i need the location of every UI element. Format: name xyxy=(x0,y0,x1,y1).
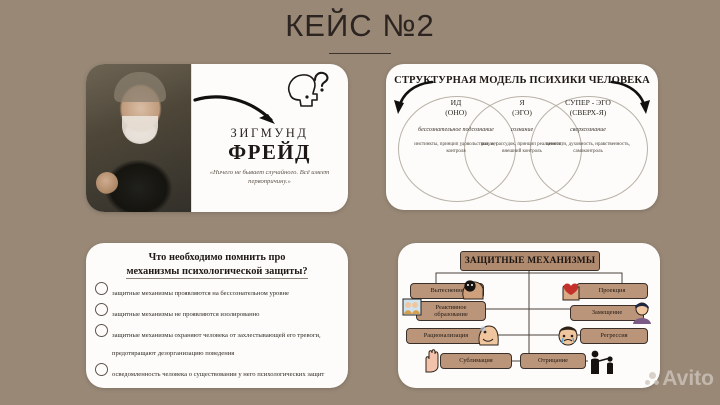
list-item: осведомленность человека о существовании… xyxy=(95,363,341,388)
list-item-text: осведомленность человека о существовании… xyxy=(112,371,324,388)
venn-column-superego: СУПЕР - ЭГО (СВЕРХ-Я) сверхсознание ценн… xyxy=(540,98,636,155)
superego-traits: ценности, духовность, нравственность, са… xyxy=(540,142,636,155)
node-proekciya[interactable]: Проекция xyxy=(576,283,648,299)
list-item-text: защитные механизмы проявляются на бессоз… xyxy=(112,290,289,297)
defense-title: ЗАЩИТНЫЕ МЕХАНИЗМЫ xyxy=(460,251,600,271)
avito-logo-icon xyxy=(645,372,660,387)
superego-alt: (СВЕРХ-Я) xyxy=(570,108,607,117)
list-item-text: защитные механизмы не проявляются изолир… xyxy=(112,311,259,318)
person-group-icon xyxy=(95,303,108,316)
list-item: защитные механизмы охраняют человека от … xyxy=(95,324,341,360)
node-regressiya[interactable]: Регрессия xyxy=(580,328,648,344)
card-remember-list: Что необходимо помнить про механизмы пси… xyxy=(86,243,348,388)
venn-diagram: ИД (ОНО) бессознательное подсознание инс… xyxy=(398,96,646,204)
id-name: ИД xyxy=(451,98,462,107)
list-heading: Что необходимо помнить про механизмы пси… xyxy=(96,251,338,279)
family-photo-icon xyxy=(402,297,422,317)
freud-firstname: ЗИГМУНД xyxy=(191,126,348,141)
card-structural-model: СТРУКТУРНАЯ МОДЕЛЬ ПСИХИКИ ЧЕЛОВЕКА ИД (… xyxy=(386,64,658,210)
superego-level: сверхсознание xyxy=(540,126,636,134)
node-otricanie[interactable]: Отрицание xyxy=(520,353,586,369)
page-title: КЕЙС №2 xyxy=(0,8,720,44)
card-defense-mechanisms: ЗАЩИТНЫЕ МЕХАНИЗМЫ Вытеснение Проекция Р… xyxy=(398,243,660,388)
avito-watermark: Avito xyxy=(645,367,714,391)
person-phone-icon xyxy=(630,301,654,325)
freud-text-area: ЗИГМУНД ФРЕЙД «Ничего не бывает случайно… xyxy=(191,64,348,212)
node-racionalizaciya[interactable]: Рационализация xyxy=(406,328,486,344)
list-heading-line2: механизмы психологической защиты? xyxy=(126,266,307,279)
freud-portrait-image xyxy=(86,64,192,212)
head-thought-icon xyxy=(460,279,486,301)
raised-hand-icon xyxy=(420,347,446,373)
brain-head-icon xyxy=(95,282,108,295)
card-freud: ЗИГМУНД ФРЕЙД «Ничего не бывает случайно… xyxy=(86,64,348,212)
list-item-text: защитные механизмы охраняют человека от … xyxy=(112,332,321,357)
freud-quote: «Ничего не бывает случайного. Всё имеет … xyxy=(199,168,340,186)
title-divider xyxy=(329,53,391,54)
ego-name: Я xyxy=(519,98,524,107)
list-heading-line1: Что необходимо помнить про xyxy=(149,252,286,263)
portrait-hair xyxy=(114,72,166,102)
list-item: защитные механизмы не проявляются изолир… xyxy=(95,303,341,321)
avito-wordmark: Avito xyxy=(662,367,714,391)
superego-name: СУПЕР - ЭГО xyxy=(565,98,611,107)
slide-root: КЕЙС №2 ЗИГМУНД ФРЕЙД «Ничего не бывает … xyxy=(0,0,720,405)
lightbulb-person-icon xyxy=(95,363,108,376)
id-alt: (ОНО) xyxy=(445,108,467,117)
crying-face-icon xyxy=(556,323,580,347)
old-man-head-icon xyxy=(476,323,500,347)
node-sublimaciya[interactable]: Сублимация xyxy=(440,353,512,369)
freud-lastname: ФРЕЙД xyxy=(191,140,348,165)
bullet-list: защитные механизмы проявляются на бессоз… xyxy=(95,282,341,388)
two-people-pointing-icon xyxy=(588,349,616,375)
list-item: защитные механизмы проявляются на бессоз… xyxy=(95,282,341,300)
running-person-icon xyxy=(95,324,108,337)
node-reaktivnoe-obrazovanie[interactable]: Реактивное образование xyxy=(416,301,486,321)
hand-heart-icon xyxy=(560,279,584,301)
portrait-beard xyxy=(122,116,158,144)
ego-alt: (ЭГО) xyxy=(512,108,532,117)
